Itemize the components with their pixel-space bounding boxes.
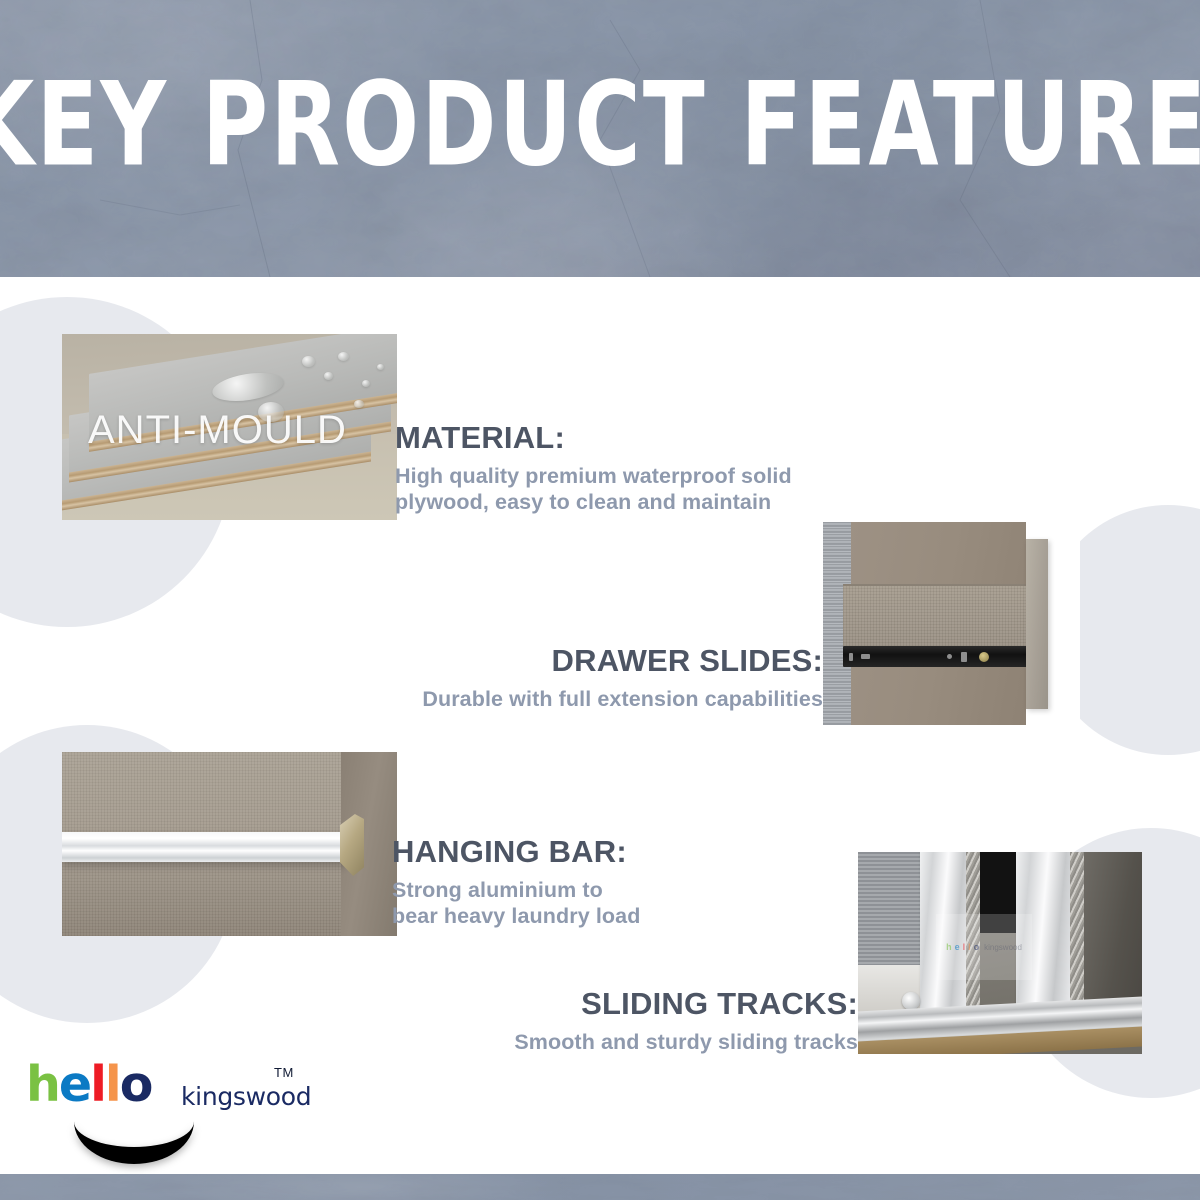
feature-image-hanging-bar [62, 752, 397, 936]
footer-band [0, 1174, 1200, 1200]
feature-body-material: High quality premium waterproof solid pl… [395, 464, 792, 516]
feature-image-material: ANTI-MOULD [62, 334, 397, 520]
brand-logo[interactable]: h e l l o kingswood TM [26, 1062, 316, 1162]
feature-body-sliding-tracks: Smooth and sturdy sliding tracks [330, 1030, 858, 1056]
logo-letter-e: e [59, 1062, 90, 1107]
water-droplet [302, 356, 315, 367]
watermark-brand: kingswood [984, 943, 1022, 952]
page-title: KEY PRODUCT FEATURES [0, 68, 1200, 184]
door-felt-seal-right [1070, 852, 1084, 1010]
logo-smile-icon [74, 1118, 194, 1164]
logo-letter-o: o [120, 1062, 152, 1107]
feature-heading-material: MATERIAL: [395, 422, 792, 455]
trademark-symbol: TM [274, 1065, 294, 1080]
feature-text-material: MATERIAL: High quality premium waterproo… [395, 422, 792, 515]
drawer-slide-rail [843, 646, 1029, 667]
watermark-letter-l2: l [968, 942, 971, 952]
aluminium-hanging-rail [62, 832, 346, 862]
water-droplet [338, 352, 349, 361]
water-droplet [362, 380, 370, 387]
header-band: KEY PRODUCT FEATURES [0, 0, 1200, 277]
logo-letter-l-red: l [90, 1062, 105, 1107]
drawer-box [843, 584, 1033, 646]
water-droplet [377, 364, 384, 370]
feature-image-sliding-tracks: hellokingswood [858, 852, 1142, 1054]
feature-text-drawer-slides: DRAWER SLIDES: Durable with full extensi… [300, 645, 823, 713]
feature-body-hanging-bar: Strong aluminium to bear heavy laundry l… [392, 878, 640, 930]
feature-body-drawer-slides: Durable with full extension capabilities [300, 687, 823, 713]
logo-letter-l-orange: l [105, 1062, 120, 1107]
water-droplet [354, 400, 364, 408]
logo-letter-h: h [26, 1062, 59, 1107]
feature-image-drawer-slides [823, 522, 1080, 725]
feature-text-sliding-tracks: SLIDING TRACKS: Smooth and sturdy slidin… [330, 988, 858, 1056]
watermark-letter-e: e [955, 942, 960, 952]
footer-texture [0, 1174, 1200, 1200]
water-droplet [324, 372, 333, 380]
watermark-letter-h: h [946, 942, 952, 952]
feature-heading-drawer-slides: DRAWER SLIDES: [300, 645, 823, 678]
infographic-page: KEY PRODUCT FEATURES ANTI-MOULD MA [0, 0, 1200, 1200]
logo-wordmark-hello: h e l l o [26, 1062, 151, 1107]
image-overlay-label-anti-mould: ANTI-MOULD [88, 408, 347, 453]
logo-brand-name: kingswood [181, 1082, 311, 1111]
watermark-letter-o: o [974, 942, 980, 952]
wardrobe-open-interior [1084, 852, 1142, 1014]
feature-heading-sliding-tracks: SLIDING TRACKS: [330, 988, 858, 1021]
drawer-front-panel [1026, 539, 1048, 709]
feature-text-hanging-bar: HANGING BAR: Strong aluminium to bear he… [392, 836, 640, 929]
image-watermark-logo: hellokingswood [936, 914, 1032, 980]
watermark-letter-l1: l [963, 942, 966, 952]
feature-heading-hanging-bar: HANGING BAR: [392, 836, 640, 869]
